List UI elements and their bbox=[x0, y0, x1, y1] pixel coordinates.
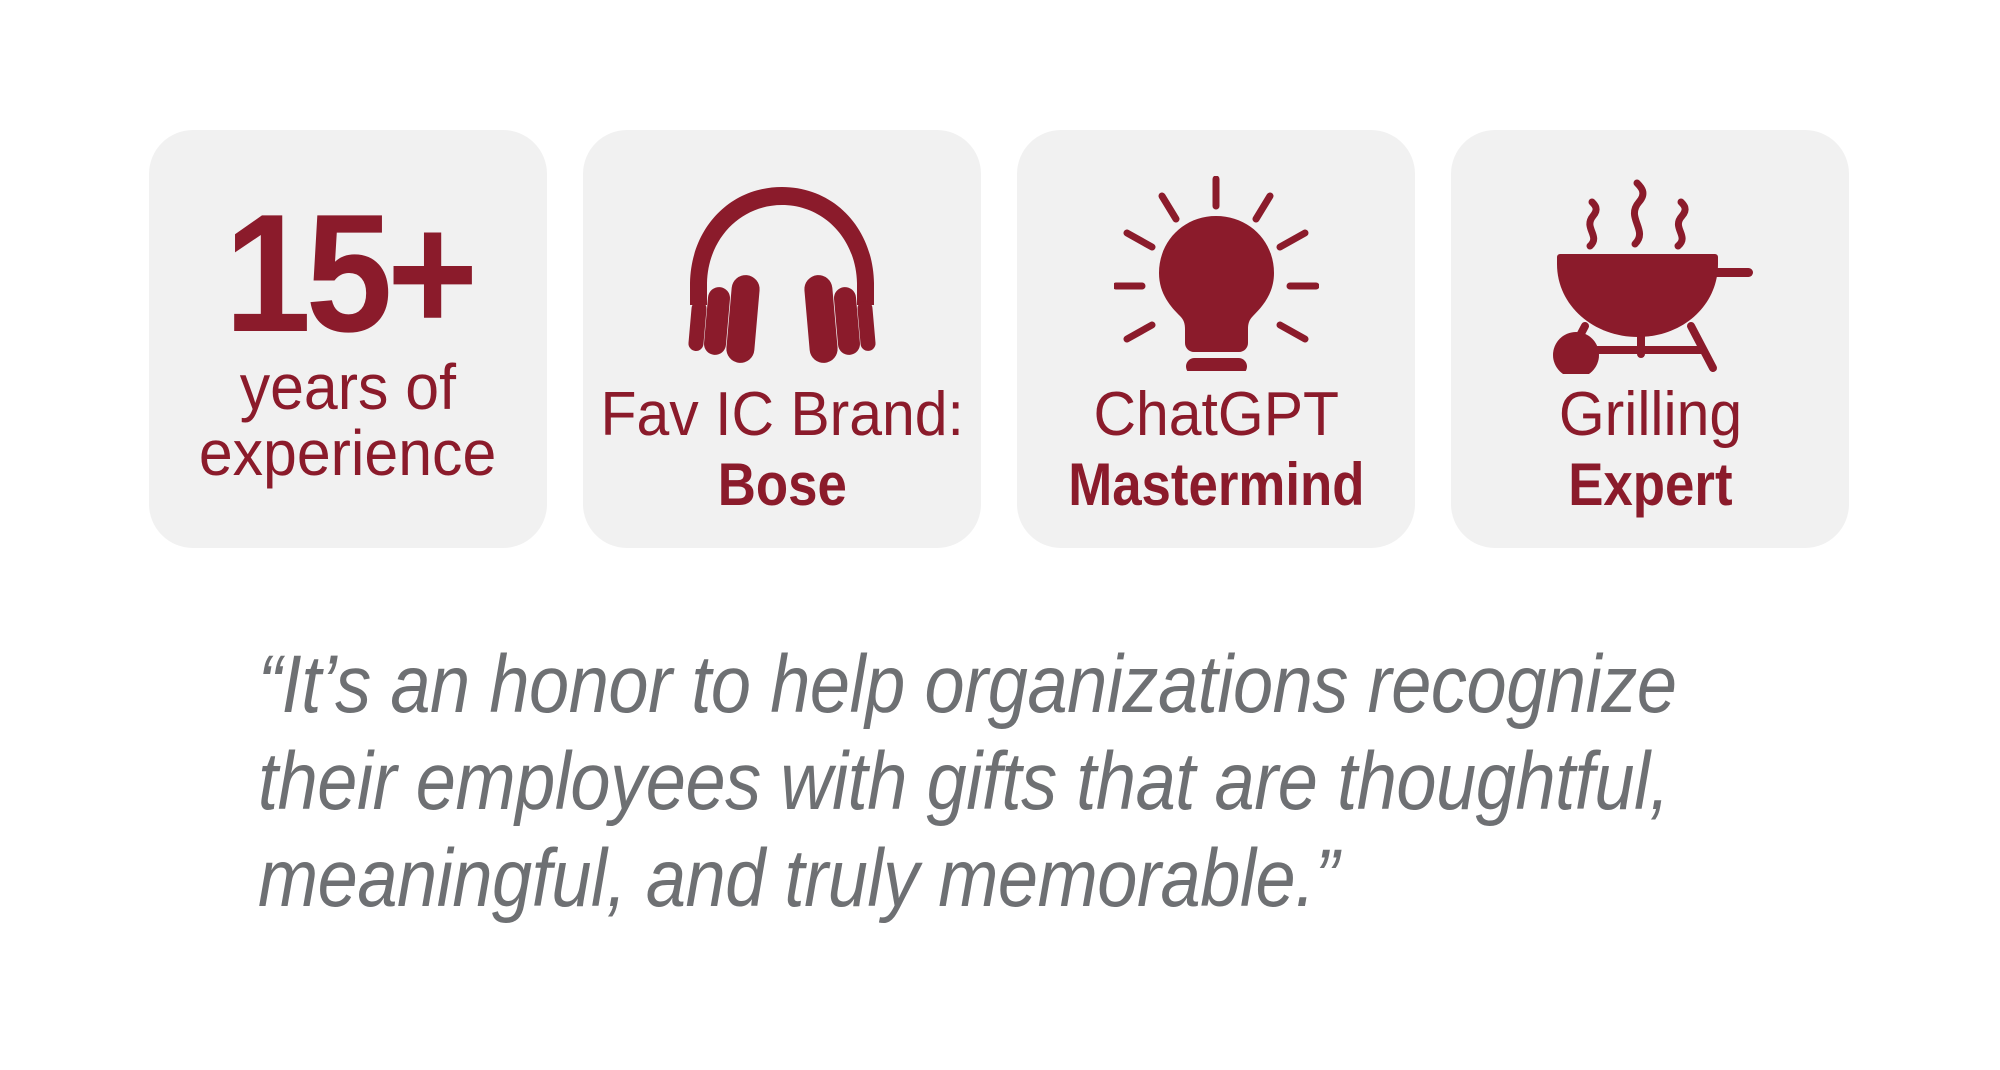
badge-labels: Grilling Expert bbox=[1554, 383, 1747, 515]
badge-label-bottom: Bose bbox=[717, 454, 846, 515]
stat-number: 15+ bbox=[224, 196, 472, 351]
testimonial-quote: “It’s an honor to help organizations rec… bbox=[258, 636, 1898, 927]
quote-line-1: “It’s an honor to help organizations rec… bbox=[258, 636, 1701, 733]
stat-label-line-2: experience bbox=[199, 420, 496, 488]
badge-label-top: ChatGPT bbox=[1093, 383, 1339, 446]
badge-label-bottom: Expert bbox=[1568, 454, 1732, 515]
badge-labels: ChatGPT Mastermind bbox=[1048, 383, 1385, 515]
badge-card-chatgpt-mastermind: ChatGPT Mastermind bbox=[1017, 130, 1415, 548]
badge-label-top: Grilling bbox=[1558, 383, 1741, 446]
quote-line-3: meaningful, and truly memorable.” bbox=[258, 830, 1701, 927]
stat-block: 15+ years of experience bbox=[191, 196, 504, 488]
quote-line-2: their employees with gifts that are thou… bbox=[258, 733, 1701, 830]
lightbulb-icon bbox=[1114, 169, 1319, 379]
bbq-grill-icon bbox=[1543, 169, 1758, 379]
badge-labels: Fav IC Brand: Bose bbox=[591, 383, 973, 515]
headphones-icon bbox=[677, 169, 887, 379]
badge-card-years-of-experience: 15+ years of experience bbox=[149, 130, 547, 548]
stat-label-line-1: years of bbox=[240, 354, 456, 422]
badge-card-grilling-expert: Grilling Expert bbox=[1451, 130, 1849, 548]
badge-row: 15+ years of experience bbox=[149, 130, 1849, 548]
profile-highlight-graphic: 15+ years of experience bbox=[0, 0, 2000, 1070]
badge-label-bottom: Mastermind bbox=[1068, 454, 1364, 515]
badge-label-top: Fav IC Brand: bbox=[600, 383, 963, 446]
badge-card-favorite-ic-brand: Fav IC Brand: Bose bbox=[583, 130, 981, 548]
